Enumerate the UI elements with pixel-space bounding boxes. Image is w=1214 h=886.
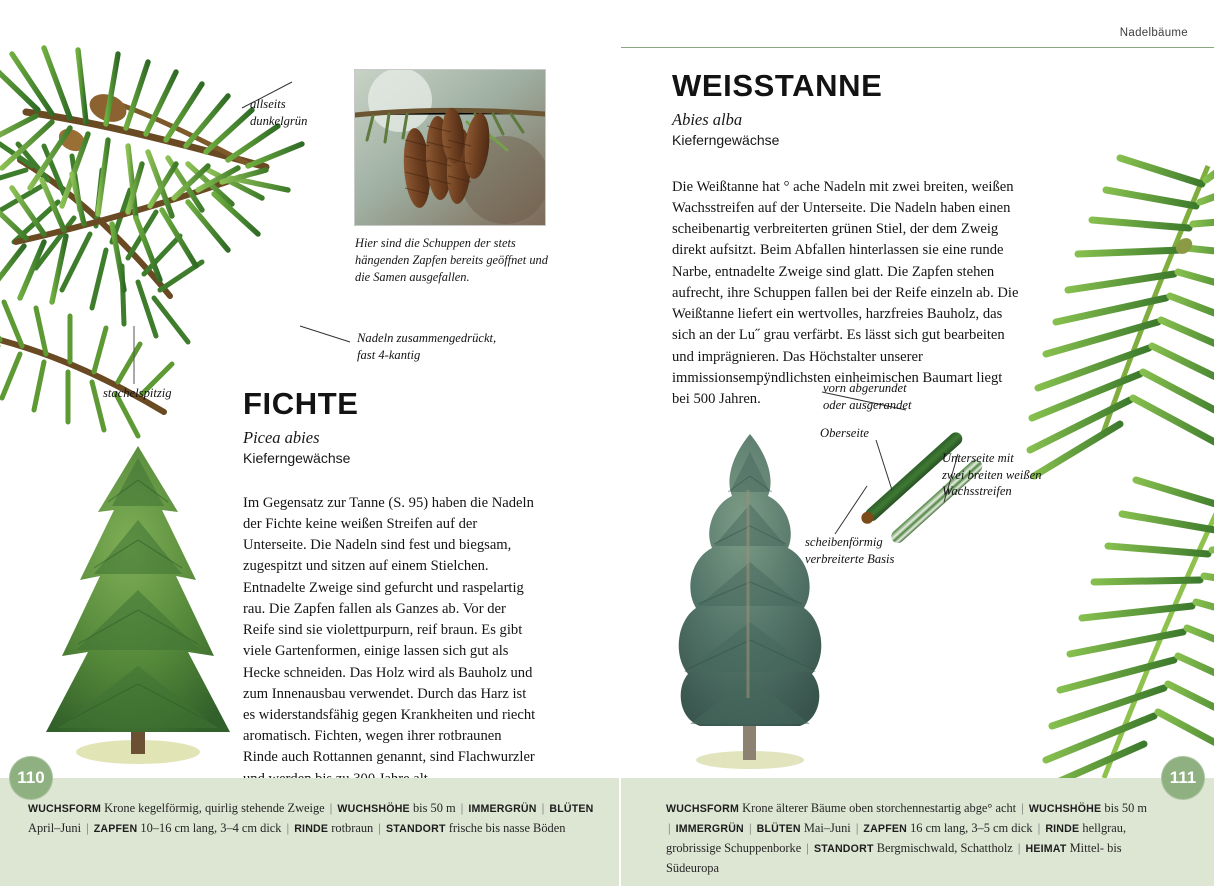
fact-value: April–Juni	[28, 821, 81, 835]
spruce-tree-illustration	[38, 440, 238, 770]
cone-photograph	[355, 70, 545, 225]
fact-key: HEIMAT	[1025, 843, 1066, 855]
page-number-badge-right: 111	[1161, 756, 1205, 800]
species-latin-weisstanne: Abies alba	[672, 110, 1022, 131]
fact-separator: |	[1016, 841, 1022, 855]
fir-tree-illustration	[670, 430, 830, 770]
left-fact-list: WUCHSFORM Krone kegelförmig, quirlig ste…	[28, 798, 594, 838]
fact-value: 10–16 cm lang, 3–4 cm dick	[140, 821, 281, 835]
fact-separator: |	[540, 801, 546, 815]
fact-separator: |	[376, 821, 382, 835]
fact-separator: |	[854, 821, 860, 835]
fact-key: STANDORT	[814, 843, 874, 855]
callout-vorn-abgerundet: vorn abgerundet oder ausgerandet	[823, 380, 973, 413]
species-family-weisstanne: Kieferngewächse	[672, 131, 1022, 149]
fir-branch-photo-right-upper	[994, 150, 1214, 480]
fact-separator: |	[666, 821, 672, 835]
fact-key: IMMERGRÜN	[468, 803, 536, 815]
species-block-weisstanne: WEISSTANNE Abies alba Kieferngewächse Di…	[672, 70, 1022, 425]
leader-oberseite	[870, 438, 900, 498]
fact-value: bis 50 m	[1104, 801, 1147, 815]
fact-value: frische bis nasse Böden	[449, 821, 566, 835]
fact-separator: |	[328, 801, 334, 815]
fact-separator: |	[459, 801, 465, 815]
fact-separator: |	[1036, 821, 1042, 835]
callout-line: allseits dunkelgrün	[250, 97, 307, 128]
fact-value: Krone kegelförmig, quirlig stehende Zwei…	[104, 801, 325, 815]
species-latin-fichte: Picea abies	[243, 428, 540, 449]
species-title-weisstanne: WEISSTANNE	[672, 70, 1022, 101]
fact-separator: |	[747, 821, 753, 835]
spread-gutter	[619, 0, 621, 886]
fact-key: BLÜTEN	[757, 823, 801, 835]
right-fact-list: WUCHSFORM Krone älterer Bäume oben storc…	[666, 798, 1156, 879]
spruce-branch-photo-topleft	[0, 0, 346, 322]
fact-key: WUCHSFORM	[28, 803, 101, 815]
running-head: Nadelbäume	[1120, 27, 1188, 39]
callout-unterseite-wachsstreifen: Unterseite mit zwei breiten weißen Wachs…	[942, 450, 1102, 500]
callout-allseits-dunkelgruen: allseits dunkelgrün	[250, 96, 400, 129]
species-title-fichte: FICHTE	[243, 388, 540, 419]
callout-line: vorn abgerundet oder ausgerandet	[823, 381, 912, 412]
fact-key: WUCHSFORM	[666, 803, 739, 815]
fact-value: Bergmischwald, Schattholz	[877, 841, 1013, 855]
species-body-fichte: Im Gegensatz zur Tanne (S. 95) haben die…	[243, 493, 540, 790]
callout-nadeln-zusammengedrueckt: Nadeln zusammengedrückt, fast 4-kantig	[357, 330, 547, 363]
fact-key: IMMERGRÜN	[676, 823, 744, 835]
right-fact-band: WUCHSFORM Krone älterer Bäume oben storc…	[620, 778, 1214, 886]
left-page: allseits dunkelgrün	[0, 0, 620, 886]
fact-key: ZAPFEN	[863, 823, 907, 835]
callout-oberseite: Oberseite	[820, 425, 930, 442]
fact-separator: |	[804, 841, 810, 855]
fact-key: RINDE	[1045, 823, 1079, 835]
callout-stachelspitzig: stachelspitzig	[103, 385, 253, 402]
book-spread: allseits dunkelgrün	[0, 0, 1214, 886]
callout-scheibenfoermige-basis: scheibenförmig verbreiterte Basis	[805, 534, 965, 567]
fact-separator: |	[1019, 801, 1025, 815]
right-page: Nadelbäume WEISSTANNE Abies alba Kiefern…	[620, 0, 1214, 886]
callout-line: scheibenförmig verbreiterte Basis	[805, 535, 894, 566]
fact-value: bis 50 m	[413, 801, 456, 815]
fact-key: WUCHSHÖHE	[1029, 803, 1101, 815]
left-fact-band: WUCHSFORM Krone kegelförmig, quirlig ste…	[0, 778, 620, 886]
leader-nadeln	[298, 322, 358, 352]
callout-line: Nadeln zusammengedrückt, fast 4-kantig	[357, 331, 496, 362]
fact-value: Mai–Juni	[804, 821, 851, 835]
species-body-weisstanne: Die Weißtanne hat ° ache Nadeln mit zwei…	[672, 177, 1022, 410]
page-number-badge-left: 110	[9, 756, 53, 800]
cone-photo-caption: Hier sind die Schuppen der stets hängend…	[355, 235, 555, 286]
spruce-foliage-midleft	[0, 140, 244, 450]
species-family-fichte: Kieferngewächse	[243, 449, 540, 467]
header-rule	[620, 47, 1214, 48]
fact-key: RINDE	[294, 823, 328, 835]
fact-key: BLÜTEN	[549, 803, 593, 815]
fir-branch-photo-right-lower	[984, 458, 1214, 788]
callout-line: Unterseite mit zwei breiten weißen Wachs…	[942, 451, 1042, 498]
fact-key: ZAPFEN	[94, 823, 138, 835]
fact-key: STANDORT	[386, 823, 446, 835]
fact-separator: |	[84, 821, 90, 835]
fact-value: Krone älterer Bäume oben storchennestart…	[742, 801, 1016, 815]
fact-separator: |	[285, 821, 291, 835]
fact-key: WUCHSHÖHE	[337, 803, 409, 815]
fact-value: 16 cm lang, 3–5 cm dick	[910, 821, 1033, 835]
fact-value: rotbraun	[331, 821, 373, 835]
species-block-fichte: FICHTE Picea abies Kieferngewächse Im Ge…	[243, 388, 540, 804]
